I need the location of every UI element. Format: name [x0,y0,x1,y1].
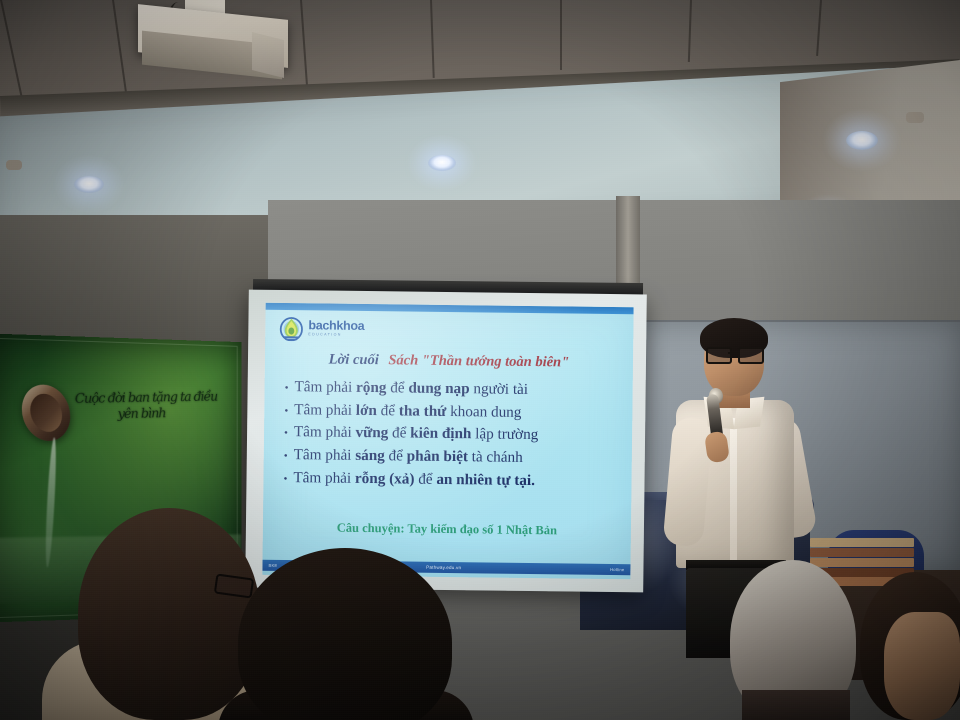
presenter-shirt-placket [730,418,737,568]
bullet-item: • Tâm phải lớn để tha thứ khoan dung [284,400,618,424]
downlight-5-icon [846,131,878,150]
projected-slide: bachkhoa EDUCATION Lời cuối Sách "Thần t… [262,303,633,579]
bullet-dot-icon: • [283,474,287,485]
presenter-eyeglasses-icon [706,347,762,360]
bachkhoa-logo: bachkhoa EDUCATION [279,315,364,342]
slide-footer-right: Hotline [610,567,624,572]
bullet-text: Tâm phải rỗng (xả) để an nhiên tự tại. [293,468,535,490]
downlight-3-icon [428,155,456,171]
sprinkler-head-icon [6,160,22,170]
bullet-dot-icon: • [284,451,288,462]
slide-footer-center: Pathway.edu.vn [426,565,461,570]
bowl-inner [25,390,66,436]
slide-title-rest: Sách "Thần tướng toàn biên" [388,352,569,370]
bullet-dot-icon: • [284,406,288,417]
bullet-text: Tâm phải rộng để dung nạp người tài [294,377,528,399]
logo-subtitle: EDUCATION [308,333,364,337]
slide-title-lead: Lời cuối [329,352,379,369]
audience-grey-hair-neck [742,690,850,720]
bullet-item: • Tâm phải vững để kiên định lập trường [284,422,618,446]
ceiling-panel-seam [560,0,562,70]
downlight-1-icon [74,176,104,193]
eyeglass-lens-right [738,347,764,364]
bullet-text: Tâm phải sáng để phân biệt tà chánh [294,445,523,467]
slide-story-line: Câu chuyện: Tay kiếm đạo số 1 Nhật Bản [263,520,631,539]
bullet-text: Tâm phải vững để kiên định lập trường [294,422,539,444]
calligraphy-line-2: yên bình [117,405,222,423]
sprinkler-head-icon [906,112,924,123]
photo-scene: Cuộc đời ban tặng ta điều yên bình [0,0,960,720]
bullet-dot-icon: • [285,383,289,394]
banner-calligraphy: Cuộc đời ban tặng ta điều yên bình [75,390,224,465]
calligraphy-line-1: Cuộc đời ban tặng ta điều [75,390,222,408]
bullet-item: • Tâm phải sáng để phân biệt tà chánh [284,445,618,469]
logo-name: bachkhoa [308,320,364,333]
bullet-item: • Tâm phải rỗng (xả) để an nhiên tự tại. [283,468,617,492]
slide-bullet-list: • Tâm phải rộng để dung nạp người tài • … [283,377,618,494]
audience-man-head [78,508,260,720]
bullet-text: Tâm phải lớn để tha thứ khoan dung [294,400,521,422]
eyeglass-bridge [728,352,738,354]
bullet-item: • Tâm phải rộng để dung nạp người tài [285,377,619,401]
slide-footer-left: BKE [268,563,277,568]
bachkhoa-logo-text: bachkhoa EDUCATION [308,320,364,338]
slide-title: Lời cuối Sách "Thần tướng toàn biên" [265,351,633,372]
bachkhoa-emblem-icon [279,315,303,341]
projector-lens-icon [252,32,284,78]
audience-right-face [884,612,960,720]
eyeglass-lens-left [706,347,732,364]
bullet-dot-icon: • [284,428,288,439]
